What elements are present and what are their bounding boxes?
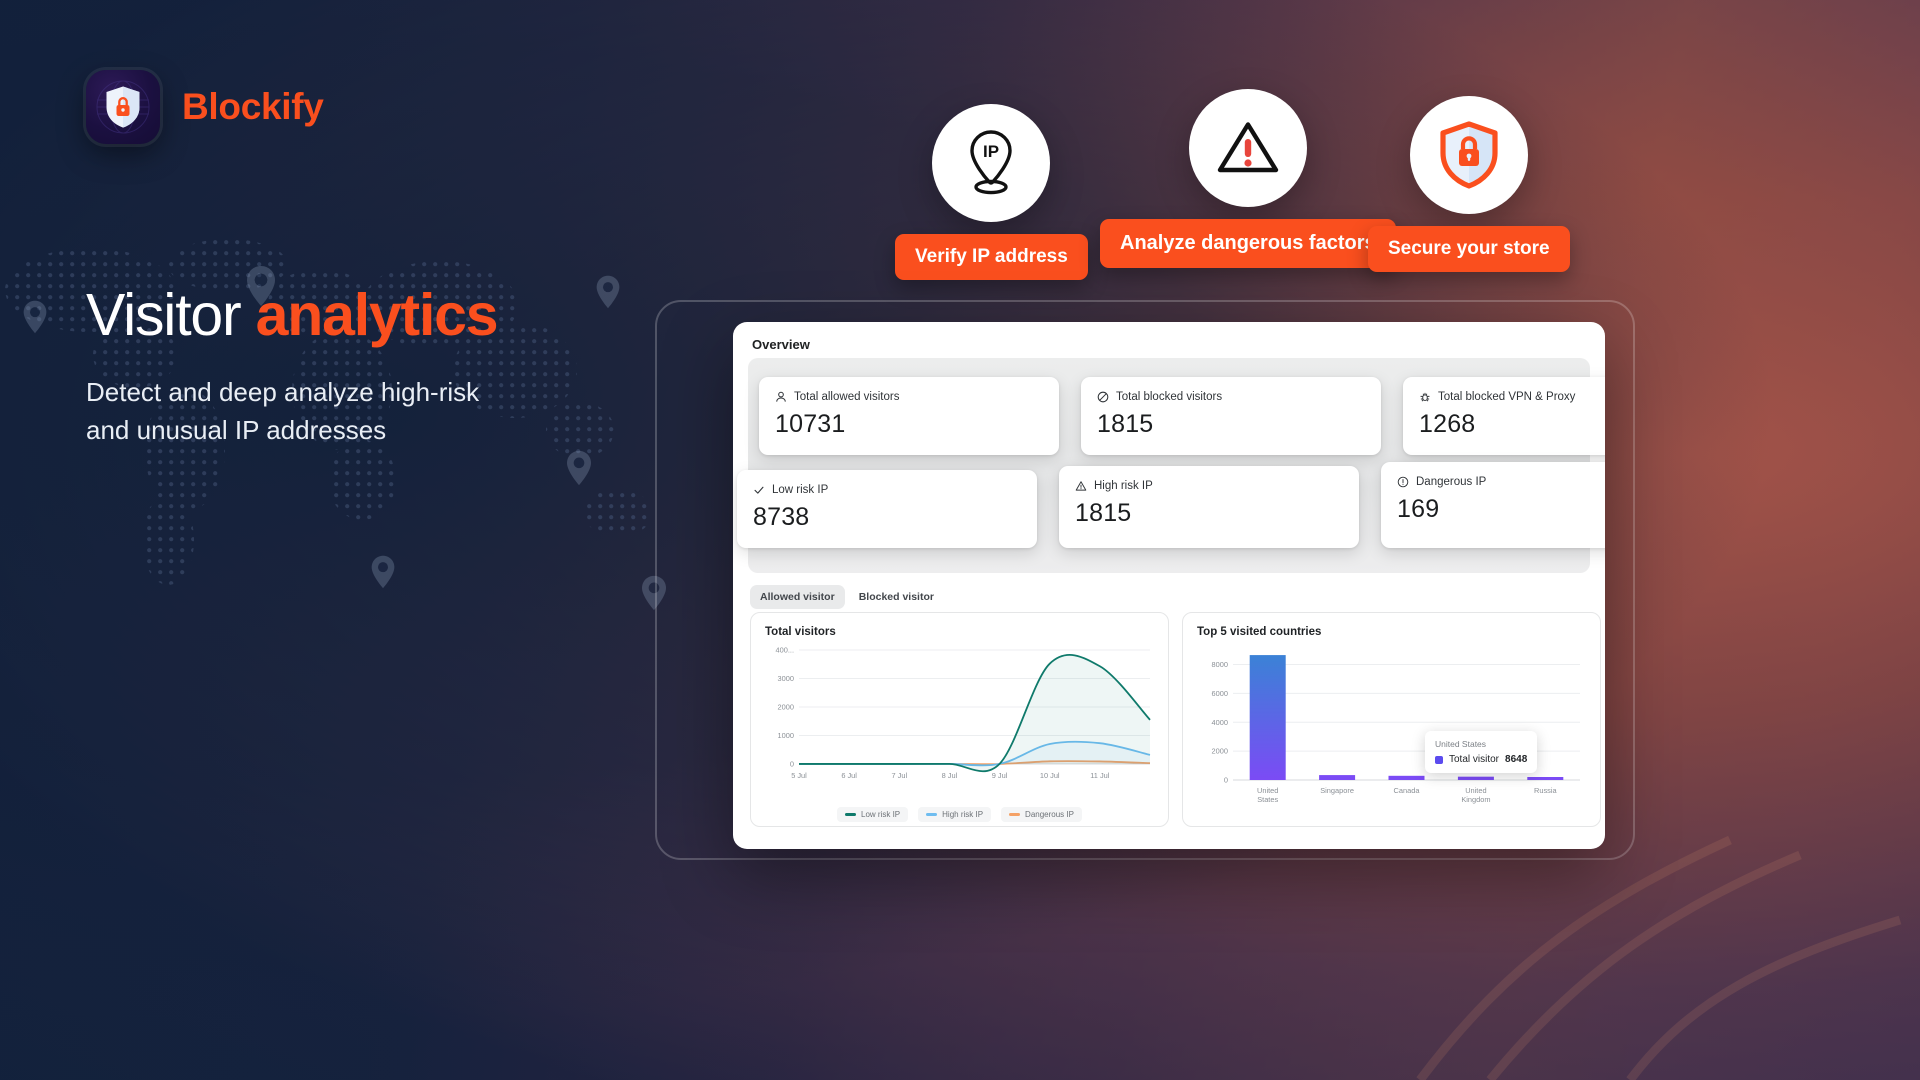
- legend-swatch: [926, 813, 937, 816]
- legend-item-low-risk-ip[interactable]: Low risk IP: [837, 807, 908, 822]
- stats-row-top: Total allowed visitors 10731 Total block…: [759, 377, 1605, 455]
- shield-lock-icon: [103, 85, 143, 129]
- feature-badge-secure-store: Secure your store: [1368, 96, 1570, 272]
- warning-triangle-icon: [1075, 480, 1087, 492]
- top-countries-bar-chart: Top 5 visited countries 0200040006000800…: [1182, 612, 1601, 827]
- svg-text:10 Jul: 10 Jul: [1040, 771, 1060, 780]
- stat-label: Total blocked visitors: [1116, 391, 1222, 403]
- stat-card-header: Total allowed visitors: [775, 391, 1043, 403]
- map-pin-marker-icon: [565, 450, 593, 486]
- tooltip-value: 8648: [1505, 754, 1527, 765]
- badge-label-verify-ip[interactable]: Verify IP address: [895, 234, 1088, 280]
- svg-text:11 Jul: 11 Jul: [1090, 771, 1110, 780]
- stat-card-header: Total blocked visitors: [1097, 391, 1365, 403]
- stat-label: High risk IP: [1094, 480, 1153, 492]
- feature-badges: IP Verify IP address Analyze dangerous f…: [860, 64, 1640, 274]
- svg-text:0: 0: [1224, 776, 1228, 785]
- svg-text:Canada: Canada: [1394, 786, 1421, 795]
- charts-container: Total visitors 0100020003000400...5 Jul6…: [750, 612, 1588, 827]
- svg-text:United: United: [1257, 786, 1278, 795]
- legend-label: Dangerous IP: [1025, 810, 1074, 819]
- stat-card-high-risk-ip[interactable]: High risk IP 1815: [1059, 466, 1359, 548]
- svg-text:2000: 2000: [778, 703, 794, 712]
- svg-text:8000: 8000: [1212, 660, 1228, 669]
- svg-text:7 Jul: 7 Jul: [891, 771, 907, 780]
- hero-subtitle: Detect and deep analyze high-risk and un…: [86, 373, 486, 449]
- tooltip-row: Total visitor 8648: [1435, 754, 1527, 765]
- badge-label-secure-store[interactable]: Secure your store: [1368, 226, 1570, 272]
- svg-text:8 Jul: 8 Jul: [942, 771, 958, 780]
- stat-card-total-blocked-visitors[interactable]: Total blocked visitors 1815: [1081, 377, 1381, 455]
- stat-value: 169: [1397, 495, 1605, 524]
- stat-label: Dangerous IP: [1416, 476, 1486, 488]
- visitor-tabs: Allowed visitor Blocked visitor: [750, 585, 944, 609]
- total-visitors-line-chart: Total visitors 0100020003000400...5 Jul6…: [750, 612, 1169, 827]
- stat-label: Low risk IP: [772, 484, 828, 496]
- svg-text:400...: 400...: [776, 646, 795, 655]
- map-pin-marker-icon: [370, 555, 396, 589]
- legend-swatch: [1009, 813, 1020, 816]
- line-chart-legend: Low risk IP High risk IP Dangerous IP: [751, 807, 1168, 822]
- badge-label-analyze-factors[interactable]: Analyze dangerous factors: [1100, 219, 1396, 268]
- svg-text:1000: 1000: [778, 731, 794, 740]
- shield-lock-icon: [1437, 120, 1501, 190]
- person-icon: [775, 391, 787, 403]
- map-pin-marker-icon: [22, 300, 48, 334]
- alert-circle-icon: [1397, 476, 1409, 488]
- headline-accent: analytics: [256, 282, 498, 348]
- stat-card-header: High risk IP: [1075, 480, 1343, 492]
- legend-swatch: [845, 813, 856, 816]
- legend-item-high-risk-ip[interactable]: High risk IP: [918, 807, 991, 822]
- stats-row-bottom: Low risk IP 8738 High risk IP 1815 Dange…: [737, 462, 1605, 548]
- tab-allowed-visitor[interactable]: Allowed visitor: [750, 585, 845, 609]
- brand-logo-row: Blockify: [86, 70, 646, 144]
- stat-label: Total allowed visitors: [794, 391, 899, 403]
- map-pin-marker-icon: [640, 575, 668, 611]
- dashboard-title: Overview: [733, 322, 1605, 352]
- svg-text:9 Jul: 9 Jul: [992, 771, 1008, 780]
- svg-text:6 Jul: 6 Jul: [841, 771, 857, 780]
- page-title: Visitor analytics: [86, 284, 646, 347]
- svg-text:2000: 2000: [1212, 747, 1228, 756]
- stat-card-header: Total blocked VPN & Proxy: [1419, 391, 1605, 403]
- stat-card-total-blocked-vpn-proxy[interactable]: Total blocked VPN & Proxy 1268: [1403, 377, 1605, 455]
- svg-text:States: States: [1257, 795, 1278, 804]
- bar-chart-tooltip: United States Total visitor 8648: [1425, 731, 1537, 773]
- stat-value: 8738: [753, 503, 1021, 532]
- hero-section: Blockify Visitor analytics Detect and de…: [86, 70, 646, 449]
- warning-triangle-icon: [1215, 118, 1281, 178]
- stat-card-dangerous-ip[interactable]: Dangerous IP 169: [1381, 462, 1605, 548]
- stat-value: 10731: [775, 410, 1043, 439]
- legend-label: Low risk IP: [861, 810, 900, 819]
- svg-text:6000: 6000: [1212, 689, 1228, 698]
- stat-value: 1815: [1097, 410, 1365, 439]
- stat-value: 1815: [1075, 499, 1343, 528]
- svg-text:Singapore: Singapore: [1320, 786, 1354, 795]
- svg-text:Russia: Russia: [1534, 786, 1557, 795]
- tooltip-series-label: Total visitor: [1449, 754, 1499, 765]
- brand-name: Blockify: [182, 86, 324, 128]
- svg-text:4000: 4000: [1212, 718, 1228, 727]
- svg-text:IP: IP: [983, 142, 999, 161]
- stat-label: Total blocked VPN & Proxy: [1438, 391, 1575, 403]
- badge-icon-circle: [1189, 89, 1307, 207]
- analytics-dashboard: Overview Total allowed visitors 10731 To…: [733, 322, 1605, 849]
- stat-card-total-allowed-visitors[interactable]: Total allowed visitors 10731: [759, 377, 1059, 455]
- feature-badge-verify-ip: IP Verify IP address: [895, 104, 1088, 280]
- svg-text:3000: 3000: [778, 674, 794, 683]
- svg-text:0: 0: [790, 760, 794, 769]
- check-icon: [753, 484, 765, 496]
- badge-icon-circle: IP: [932, 104, 1050, 222]
- tooltip-title: United States: [1435, 739, 1527, 749]
- ban-icon: [1097, 391, 1109, 403]
- legend-label: High risk IP: [942, 810, 983, 819]
- legend-item-dangerous-ip[interactable]: Dangerous IP: [1001, 807, 1082, 822]
- tooltip-swatch: [1435, 756, 1443, 764]
- svg-text:United: United: [1465, 786, 1486, 795]
- badge-icon-circle: [1410, 96, 1528, 214]
- chart-title: Total visitors: [765, 626, 1154, 638]
- svg-text:5 Jul: 5 Jul: [791, 771, 807, 780]
- svg-text:Kingdom: Kingdom: [1461, 795, 1490, 804]
- headline-plain: Visitor: [86, 282, 256, 348]
- line-plot-area: 0100020003000400...5 Jul6 Jul7 Jul8 Jul9…: [765, 644, 1154, 794]
- ip-location-pin-icon: IP: [960, 127, 1022, 199]
- stat-card-low-risk-ip[interactable]: Low risk IP 8738: [737, 470, 1037, 548]
- chart-title: Top 5 visited countries: [1197, 626, 1586, 638]
- stat-card-header: Dangerous IP: [1397, 476, 1605, 488]
- app-logo: [86, 70, 160, 144]
- tab-blocked-visitor[interactable]: Blocked visitor: [849, 585, 944, 609]
- stat-card-header: Low risk IP: [753, 484, 1021, 496]
- bug-icon: [1419, 391, 1431, 403]
- feature-badge-analyze-factors: Analyze dangerous factors: [1100, 89, 1396, 268]
- stat-value: 1268: [1419, 410, 1605, 439]
